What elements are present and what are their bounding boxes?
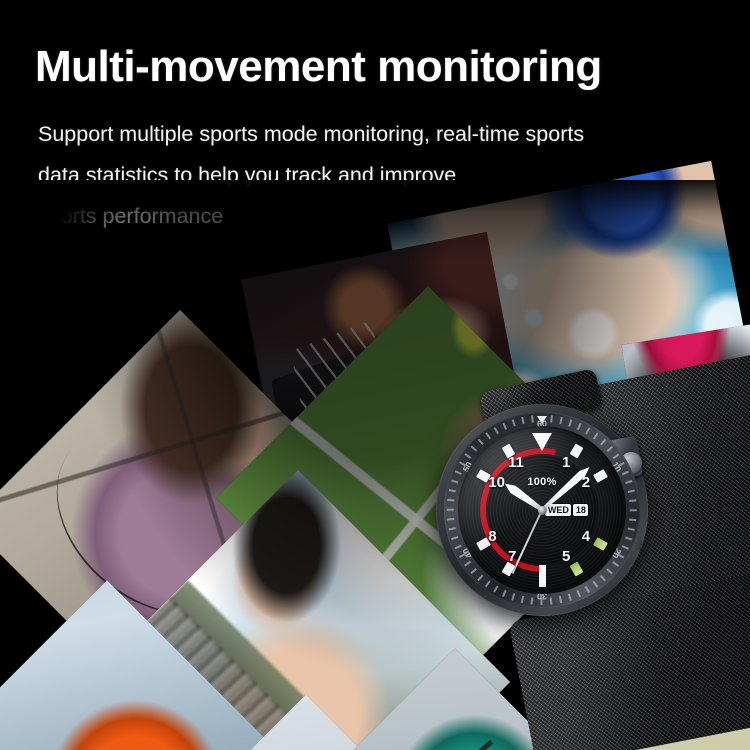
bezel-tick [471, 568, 477, 574]
dial-numeral-4: 4 [582, 528, 590, 545]
bezel-tick [628, 490, 635, 493]
bezel-tick [471, 446, 477, 452]
dial-numeral-10: 10 [488, 474, 505, 491]
bezel-tick [625, 480, 632, 484]
bezel-tick [560, 417, 563, 424]
bezel-tick [568, 593, 572, 600]
bezel-tick [494, 427, 499, 434]
date-number-label: 18 [573, 504, 588, 516]
bezel-tick [568, 419, 572, 426]
bezel-tick [593, 581, 598, 588]
dial-numeral-5: 5 [562, 548, 570, 565]
bezel-tick [585, 427, 590, 434]
bezel-tick [503, 590, 507, 597]
bezel-tick [629, 518, 636, 520]
bezel-tick [593, 433, 598, 440]
bezel-tick [503, 423, 507, 430]
bezel-tick [478, 439, 484, 445]
battery-percent-label: 100% [527, 476, 556, 488]
bezel-tick [522, 417, 525, 424]
bezel-tick [447, 499, 454, 501]
dial-numeral-7: 7 [508, 548, 516, 565]
bezel-tick [447, 509, 454, 511]
bezel-tick [447, 518, 454, 520]
bezel-tick [585, 586, 590, 593]
bezel-tick [577, 590, 581, 597]
bezel-tick [522, 596, 525, 603]
dial-numeral-8: 8 [488, 528, 496, 545]
bezel-tick [512, 419, 516, 426]
bezel-tick [607, 568, 613, 574]
bezel-tick [629, 499, 636, 501]
bezel-tick [560, 596, 563, 603]
bezel-tick [512, 593, 516, 600]
smartwatch-product: 102030405060 100% WED 18 1111028475 [424, 386, 694, 658]
page-title: Multi-movement monitoring [35, 42, 602, 92]
bezel-tick [630, 509, 637, 511]
bezel-tick [451, 536, 458, 540]
bezel-tick [486, 433, 491, 440]
dial-marker-4 [593, 537, 608, 551]
subtitle-line-1: Support multiple sports mode monitoring,… [38, 114, 718, 155]
bezel-tick [600, 575, 606, 581]
dial-numeral-2: 2 [582, 474, 590, 491]
watch-dial[interactable]: 100% WED 18 1111028475 [458, 426, 626, 594]
collage-left-fade [0, 180, 120, 420]
dial-numeral-1: 1 [562, 454, 570, 471]
date-complication: WED 18 [545, 504, 588, 516]
bezel-tick [478, 575, 484, 581]
dial-marker-2 [593, 469, 608, 483]
dial-marker-5 [569, 561, 583, 576]
bezel-tick [449, 528, 456, 531]
bezel-tick [577, 423, 581, 430]
bezel-tick [451, 480, 458, 484]
promo-banner: Multi-movement monitoring Support multip… [0, 0, 750, 750]
hands-center-pin [538, 506, 547, 515]
bezel-tick [607, 446, 613, 452]
bezel-tick [628, 528, 635, 531]
bezel-tick [625, 536, 632, 540]
bezel-tick [494, 586, 499, 593]
bezel-tick [486, 581, 491, 588]
bezel-tick [449, 490, 456, 493]
dial-numeral-11: 11 [508, 454, 524, 471]
dial-marker-6 [539, 565, 546, 587]
bezel-tick [600, 439, 606, 445]
dial-marker-12 [532, 433, 552, 451]
